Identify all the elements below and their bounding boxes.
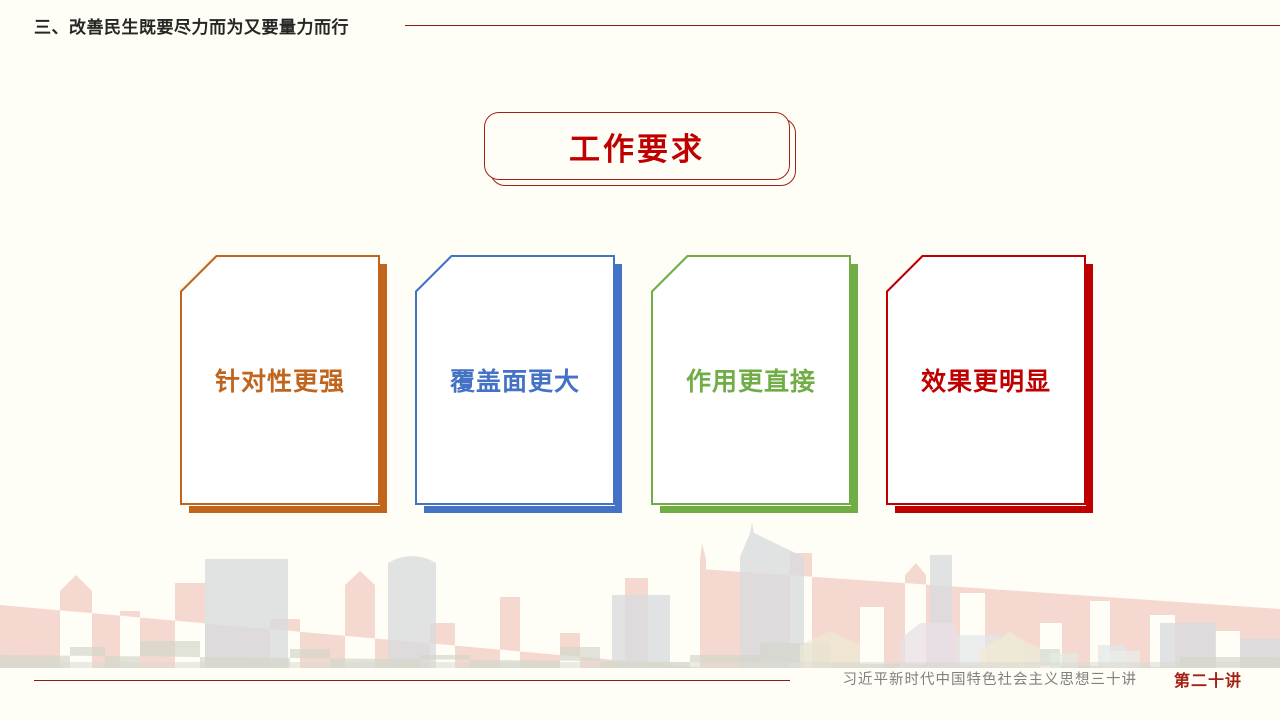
card-shadow-bottom-edge — [189, 506, 387, 513]
footer-divider — [34, 680, 790, 681]
requirement-card[interactable]: 作用更直接 — [651, 255, 858, 513]
requirement-card-label: 覆盖面更大 — [415, 255, 615, 505]
header-divider — [405, 25, 1280, 26]
requirement-card[interactable]: 覆盖面更大 — [415, 255, 622, 513]
footer-series-title: 习近平新时代中国特色社会主义思想三十讲 — [843, 668, 1138, 689]
card-shadow-right-edge — [380, 264, 387, 513]
requirement-card-label: 效果更明显 — [886, 255, 1086, 505]
requirement-card-label: 针对性更强 — [180, 255, 380, 505]
card-shadow-right-edge — [615, 264, 622, 513]
card-shadow-bottom-edge — [895, 506, 1093, 513]
requirement-card[interactable]: 效果更明显 — [886, 255, 1093, 513]
city-skyline-silhouette — [0, 523, 1280, 668]
requirement-card-list: 针对性更强 覆盖面更大 作用更直接 效果更明显 — [0, 255, 1280, 520]
card-shadow-bottom-edge — [660, 506, 858, 513]
requirement-card-label: 作用更直接 — [651, 255, 851, 505]
section-heading-label: 工作要求 — [569, 124, 705, 169]
card-shadow-bottom-edge — [424, 506, 622, 513]
slide-footer: 习近平新时代中国特色社会主义思想三十讲 第二十讲 — [0, 664, 1280, 720]
slide-header: 三、改善民生既要尽力而为又要量力而行 — [0, 0, 1280, 52]
section-heading-badge: 工作要求 — [484, 112, 800, 190]
section-heading-badge-frame: 工作要求 — [484, 112, 790, 180]
slide-canvas: 三、改善民生既要尽力而为又要量力而行 工作要求 针对性更强 覆盖面更大 — [0, 0, 1280, 720]
card-shadow-right-edge — [1086, 264, 1093, 513]
footer-lecture-number: 第二十讲 — [1174, 667, 1242, 691]
requirement-card[interactable]: 针对性更强 — [180, 255, 387, 513]
card-shadow-right-edge — [851, 264, 858, 513]
page-title: 三、改善民生既要尽力而为又要量力而行 — [34, 13, 349, 38]
